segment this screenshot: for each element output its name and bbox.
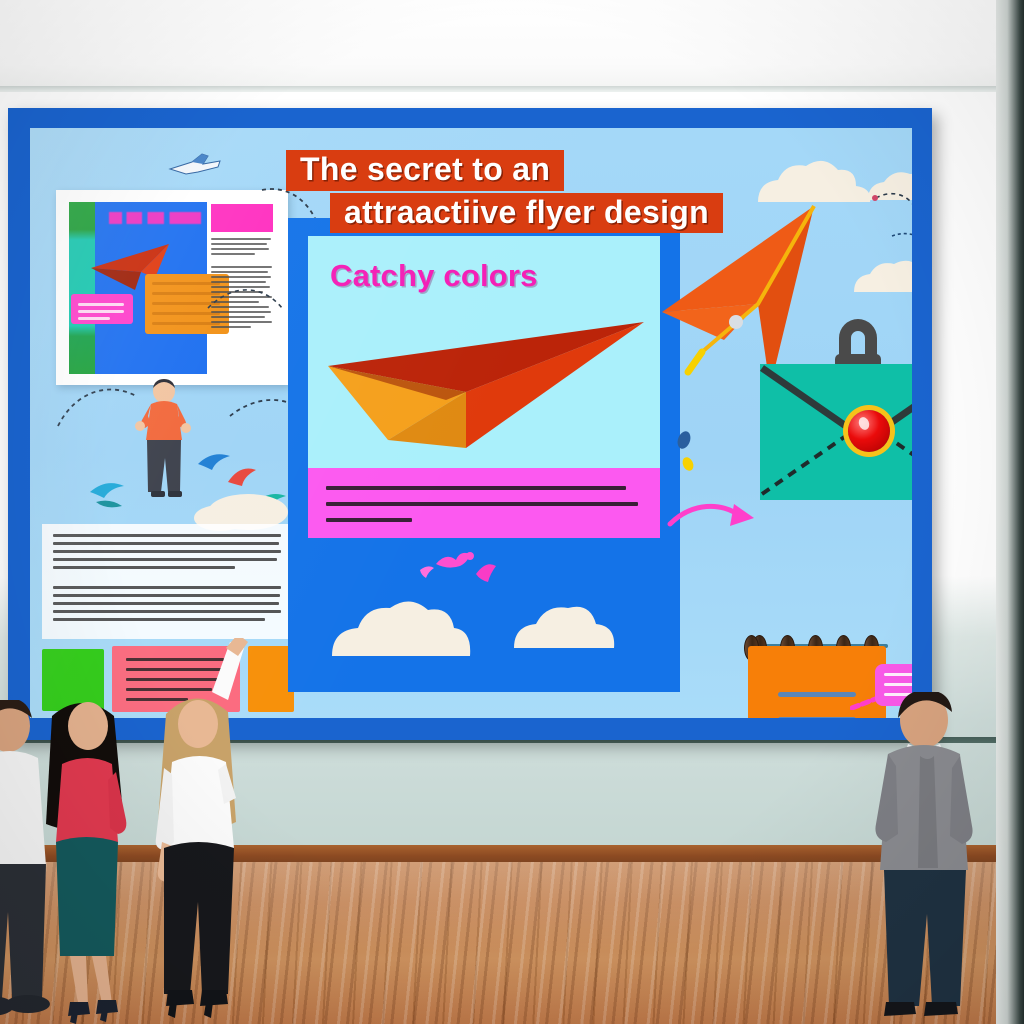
catchy-colors-heading: Catchy colors [330, 258, 538, 294]
wall-right-edge [996, 0, 1024, 1024]
screen-content: The secret to an attraactiive flyer desi… [30, 128, 912, 718]
title-line-1: The secret to an [286, 150, 564, 191]
small-decor-shapes [670, 428, 704, 474]
right-birds [870, 186, 912, 264]
pink-arrow-icon [666, 494, 758, 542]
screen-title: The secret to an attraactiive flyer desi… [278, 150, 798, 233]
person-man-grey-blazer [870, 692, 980, 1024]
center-clouds-and-birds [308, 548, 660, 672]
person-woman-blonde-pointing [140, 638, 258, 1024]
room-scene: The secret to an attraactiive flyer desi… [0, 0, 1024, 1024]
decorative-birds-left [70, 428, 310, 538]
dotted-arrow-to-notepad [670, 712, 742, 718]
left-text-block [42, 524, 292, 639]
wall-upper [0, 0, 1024, 92]
person-woman-red-top [36, 694, 136, 1024]
left-paragraph-1 [53, 534, 281, 574]
notepad-text-lines [778, 692, 856, 718]
center-panel[interactable]: Catchy colors [288, 218, 680, 692]
paper-plane-red-icon [326, 322, 656, 470]
left-paragraph-2 [53, 586, 281, 626]
title-line-2: attraactiive flyer design [330, 193, 723, 234]
center-pink-text-band [308, 468, 660, 538]
catchy-colors-card: Catchy colors [308, 236, 660, 474]
wax-seal-icon [848, 410, 890, 452]
small-airplane-icon [168, 152, 224, 178]
